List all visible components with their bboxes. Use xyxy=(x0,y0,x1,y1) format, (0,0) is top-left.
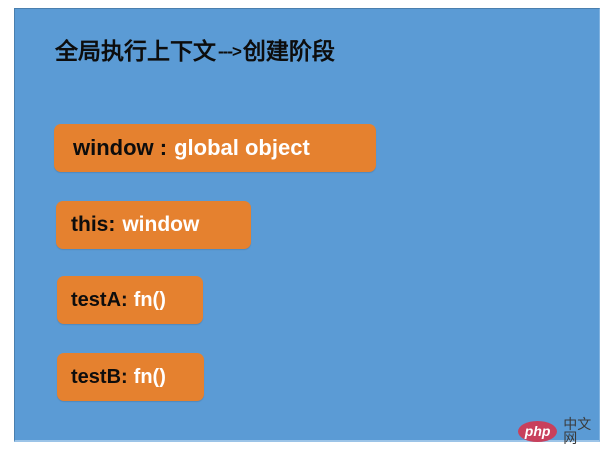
watermark-label: 中文网 xyxy=(563,417,599,445)
entry-key: this: xyxy=(71,213,115,237)
php-logo-icon: php xyxy=(518,421,557,442)
page-title-trail: 创建阶段 xyxy=(243,38,335,64)
entry-box-testb: testB: fn() xyxy=(57,353,204,401)
page-title-lead: 全局执行上下文 xyxy=(55,38,216,64)
page-title: 全局执行上下文--->创建阶段 xyxy=(55,40,335,63)
entry-key: testA: xyxy=(71,289,128,312)
entry-key: window : xyxy=(73,135,167,161)
entry-value: global object xyxy=(174,135,310,161)
entry-value: fn() xyxy=(134,289,166,312)
entry-box-window: window : global object xyxy=(54,124,376,172)
entry-value: window xyxy=(122,213,199,237)
slide-canvas: 全局执行上下文--->创建阶段 window : global object t… xyxy=(14,8,600,442)
entry-box-testa: testA: fn() xyxy=(57,276,203,324)
entry-box-this: this: window xyxy=(56,201,251,249)
entry-value: fn() xyxy=(134,366,166,389)
entry-key: testB: xyxy=(71,366,128,389)
watermark: php 中文网 xyxy=(518,417,599,445)
arrow-glyph: ---> xyxy=(216,42,243,61)
